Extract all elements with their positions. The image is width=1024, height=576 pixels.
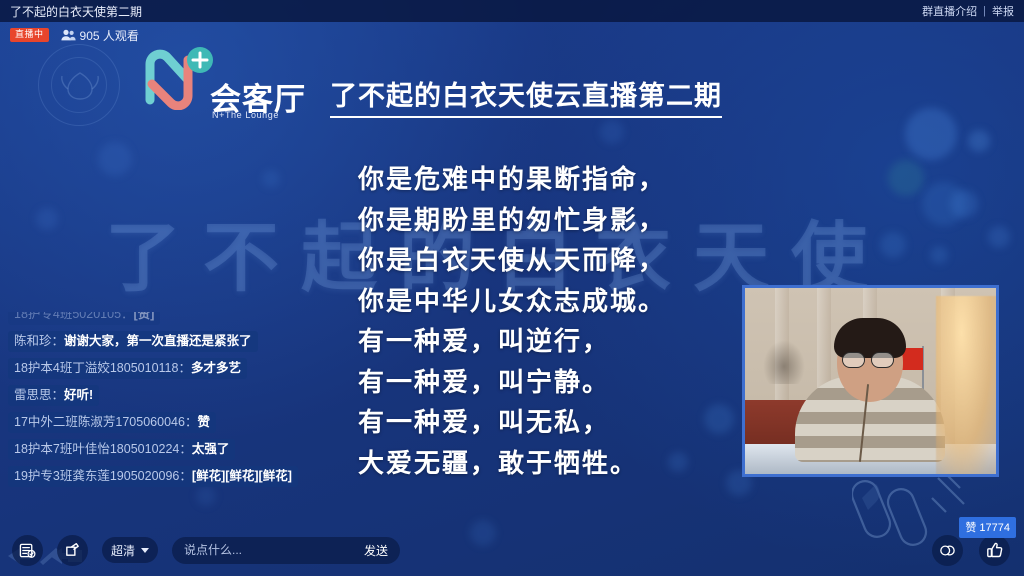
bokeh-circle	[930, 246, 948, 264]
chat-colon: ：	[121, 312, 134, 321]
quality-label: 超清	[111, 542, 135, 559]
stream-intro-link[interactable]: 群直播介绍	[922, 3, 977, 19]
top-bar-actions: 群直播介绍 | 举报	[922, 3, 1014, 19]
chat-colon: ：	[178, 361, 191, 375]
background-lamp-glow	[936, 296, 999, 477]
chat-text: [鲜花][鲜花][鲜花]	[192, 469, 292, 483]
chevron-down-icon	[141, 548, 149, 553]
chat-sender: 18护专4班5020105	[14, 312, 121, 321]
chat-colon: ：	[52, 388, 65, 402]
chat-message: 陈和珍：谢谢大家，第一次直播还是紧张了	[8, 331, 258, 352]
shelf-object	[763, 340, 805, 384]
event-headline: 了不起的白衣天使云直播第二期	[330, 74, 722, 118]
bokeh-circle	[880, 232, 906, 258]
poem-line: 你是危难中的果断指命，	[358, 160, 718, 201]
chat-colon: ：	[179, 442, 192, 456]
poem-line: 你是中华儿女众志成城。	[358, 282, 718, 323]
viewer-count: 905 人观看	[61, 27, 139, 44]
poem-line: 有一种爱，叫宁静。	[358, 363, 718, 404]
live-camera-feed[interactable]	[742, 285, 999, 477]
chat-text: 谢谢大家，第一次直播还是紧张了	[64, 334, 252, 348]
chat-sender: 19护专3班龚东莲1905020096	[14, 469, 179, 483]
glasses-right	[871, 352, 894, 368]
bokeh-circle	[922, 182, 966, 226]
poem-block: 你是危难中的果断指命， 你是期盼里的匆忙身影， 你是白衣天使从天而降， 你是中华…	[358, 160, 718, 484]
separator: |	[983, 5, 986, 17]
poem-line: 大爱无疆，敢于牺牲。	[358, 444, 718, 485]
chat-colon: ：	[52, 334, 65, 348]
top-bar: 了不起的白衣天使第二期 群直播介绍 | 举报	[0, 0, 1024, 22]
chat-colon: ：	[179, 469, 192, 483]
chat-message: 18护专4班5020105：[赞]	[8, 312, 160, 325]
person-hair	[834, 318, 906, 358]
bokeh-circle	[988, 226, 1010, 248]
chat-input[interactable]	[184, 543, 334, 557]
viewer-count-text: 905 人观看	[80, 27, 139, 44]
notes-button[interactable]	[12, 535, 43, 566]
bokeh-circle	[600, 120, 624, 144]
chat-message: 18护本4班丁溢姣1805010118：多才多艺	[8, 358, 247, 379]
bottom-toolbar: 超清 发送 赞 17774	[0, 524, 1024, 576]
chat-sender: 17中外二班陈淑芳1705060046	[14, 415, 185, 429]
chat-message-list[interactable]: 18护专4班5020105：[赞] 陈和珍：谢谢大家，第一次直播还是紧张了 18…	[8, 312, 308, 504]
bokeh-circle	[98, 142, 132, 176]
poem-line: 有一种爱，叫逆行，	[358, 322, 718, 363]
university-emblem-icon	[38, 44, 120, 126]
chat-sender: 雷思思	[14, 388, 52, 402]
chat-colon: ：	[185, 415, 198, 429]
live-badge: 直播中	[10, 28, 49, 42]
like-count-badge: 赞 17774	[959, 517, 1016, 538]
document-check-icon	[19, 542, 36, 559]
chat-text: 多才多艺	[191, 361, 241, 375]
bokeh-circle	[968, 130, 990, 152]
chat-sender: 陈和珍	[14, 334, 52, 348]
chat-sender: 18护本4班丁溢姣1805010118	[14, 361, 178, 375]
thumbs-up-icon	[986, 541, 1004, 559]
chat-message: 雷思思：好听!	[8, 385, 99, 406]
share-screen-icon	[64, 542, 81, 559]
share-screen-button[interactable]	[57, 535, 88, 566]
link-chain-icon	[938, 541, 957, 560]
bokeh-circle	[905, 108, 957, 160]
people-icon	[61, 29, 76, 41]
send-button[interactable]: 发送	[364, 542, 388, 559]
n-plus-lounge-logo: 会客厅 N+The Lounge	[140, 44, 330, 126]
like-button[interactable]	[979, 535, 1010, 566]
livestream-page: 了不起的白衣天使 了不起的白衣天使第二期 群直播介绍 | 举报 直播中	[0, 0, 1024, 576]
report-link[interactable]: 举报	[992, 3, 1014, 19]
chat-sender: 18护本7班叶佳怡1805010224	[14, 442, 179, 456]
logo-english-text: N+The Lounge	[212, 110, 279, 120]
poem-line: 你是白衣天使从天而降，	[358, 241, 718, 282]
chat-text: 好听!	[64, 388, 93, 402]
quality-selector[interactable]: 超清	[102, 537, 158, 563]
page-title: 了不起的白衣天使第二期	[10, 3, 142, 20]
live-status-row: 直播中 905 人观看	[10, 27, 139, 43]
bokeh-circle	[262, 170, 280, 188]
n-plus-logo-icon	[140, 46, 216, 110]
bokeh-circle	[36, 208, 58, 230]
chat-text: 太强了	[192, 442, 230, 456]
chat-message: 18护本7班叶佳怡1805010224：太强了	[8, 439, 235, 460]
glasses-left	[842, 352, 865, 368]
chat-text: 赞	[197, 415, 210, 429]
chat-text: [赞]	[134, 312, 155, 321]
link-button[interactable]	[932, 535, 963, 566]
chat-message: 19护专3班龚东莲1905020096：[鲜花][鲜花][鲜花]	[8, 466, 298, 487]
bokeh-circle	[950, 190, 978, 218]
chat-message: 17中外二班陈淑芳1705060046：赞	[8, 412, 216, 433]
bokeh-circle	[888, 160, 924, 196]
chat-input-container[interactable]: 发送	[172, 537, 400, 564]
poem-line: 你是期盼里的匆忙身影，	[358, 201, 718, 242]
poem-line: 有一种爱，叫无私，	[358, 403, 718, 444]
